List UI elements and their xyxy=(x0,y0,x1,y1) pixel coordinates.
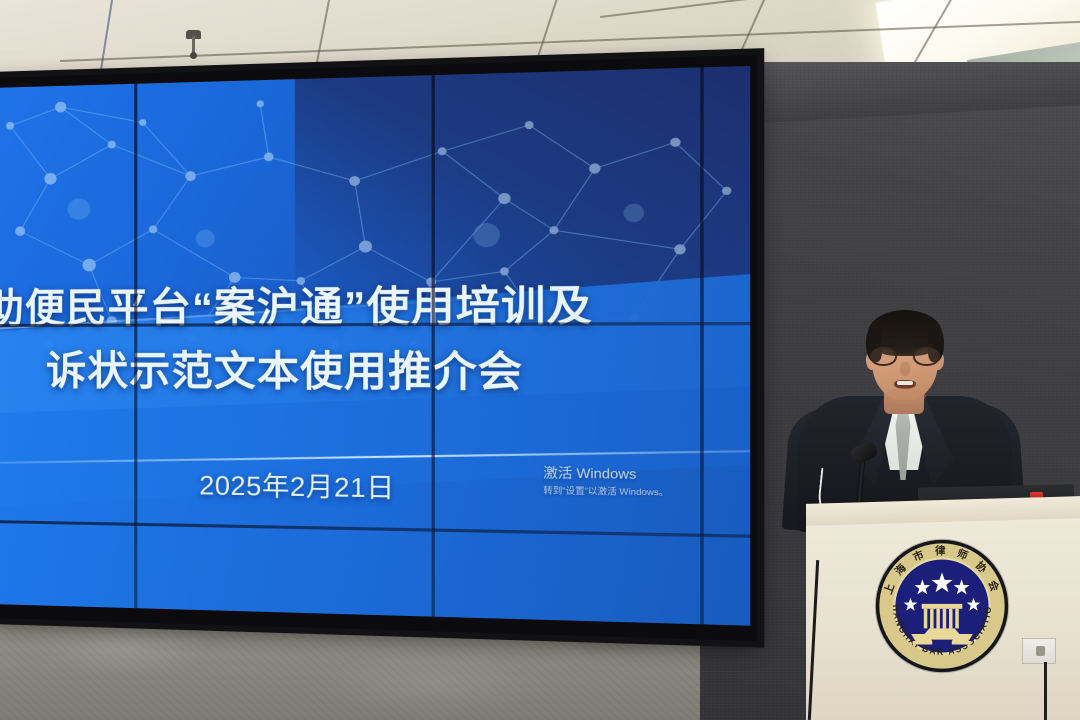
lens-left xyxy=(870,347,897,366)
video-wall-display[interactable]: 助便民平台“案沪通”使用培训及 诉状示范文本使用推介会 2025年2月21日 激… xyxy=(0,55,757,641)
slide-title-line-2: 诉状示范文本使用推介会 xyxy=(46,337,750,400)
chin xyxy=(884,388,926,404)
teeth xyxy=(897,381,913,385)
sprinkler-deflector xyxy=(190,52,197,59)
video-wall-seam-vertical xyxy=(432,75,435,617)
slide-surface: 助便民平台“案沪通”使用培训及 诉状示范文本使用推介会 2025年2月21日 激… xyxy=(0,66,750,626)
windows-activation-watermark: 激活 Windows 转到“设置”以激活 Windows。 xyxy=(543,462,668,499)
watermark-subtitle: 转到“设置”以激活 Windows。 xyxy=(543,484,668,499)
nose xyxy=(900,362,910,376)
lens-right xyxy=(913,347,940,366)
shanghai-bar-association-emblem: 上 海 市 律 师 协 会 SHANGHAI BAR ASSOCIATION xyxy=(872,536,1012,676)
conference-photo-scene: 助便民平台“案沪通”使用培训及 诉状示范文本使用推介会 2025年2月21日 激… xyxy=(0,0,1080,720)
outlet-cable xyxy=(1044,662,1047,720)
outlet-socket xyxy=(1036,646,1045,656)
video-wall-seam-vertical xyxy=(700,67,703,624)
glasses-bridge xyxy=(897,354,913,356)
video-wall-seam-vertical xyxy=(134,84,137,608)
watermark-title: 激活 Windows xyxy=(543,462,668,484)
